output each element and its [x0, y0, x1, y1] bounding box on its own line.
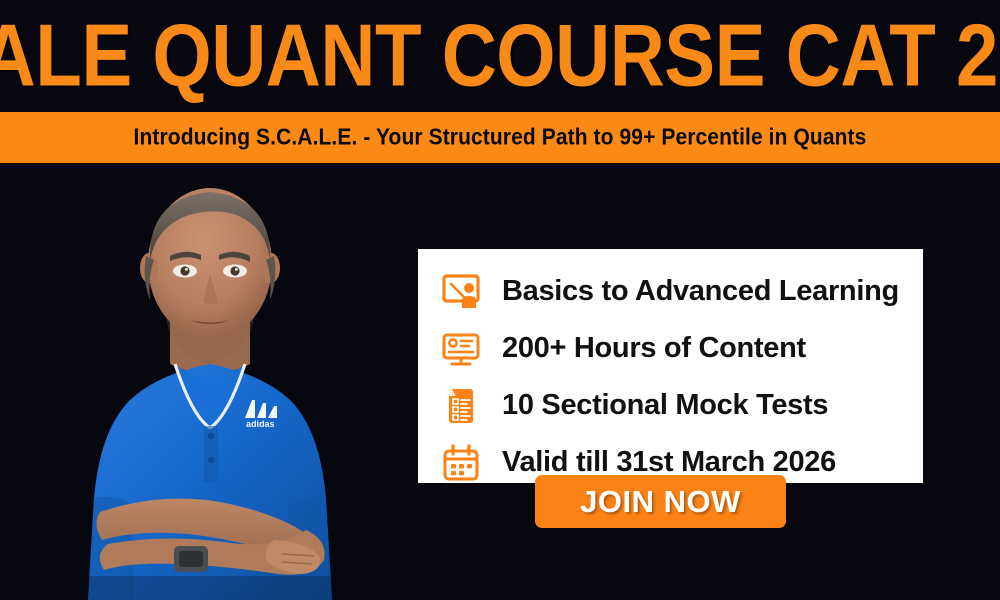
monitor-content-icon [440, 328, 482, 370]
feature-item-sectional-mock-tests: 10 Sectional Mock Tests [440, 377, 923, 434]
join-now-button[interactable]: JOIN NOW [535, 475, 786, 528]
presentation-board-icon [440, 271, 482, 313]
feature-item-basics-to-advanced: Basics to Advanced Learning [440, 263, 923, 320]
feature-label: 200+ Hours of Content [502, 332, 806, 365]
instructor-photo: adidas [38, 168, 383, 600]
feature-list-card: Basics to Advanced Learning 200+ Hours o… [418, 249, 923, 483]
feature-label: Basics to Advanced Learning [502, 275, 899, 308]
title-zone: SCALE QUANT COURSE CAT 2025 [0, 0, 1000, 112]
checklist-document-icon [440, 385, 482, 427]
promo-banner: SCALE QUANT COURSE CAT 2025 Introducing … [0, 0, 1000, 600]
subtitle-bar: Introducing S.C.A.L.E. - Your Structured… [0, 112, 1000, 163]
svg-text:adidas: adidas [246, 419, 275, 429]
subtitle-text: Introducing S.C.A.L.E. - Your Structured… [134, 124, 867, 151]
join-now-label: JOIN NOW [580, 484, 741, 520]
page-title: SCALE QUANT COURSE CAT 2025 [0, 12, 1000, 100]
feature-item-hours-of-content: 200+ Hours of Content [440, 320, 923, 377]
calendar-icon [440, 442, 482, 484]
instructor-portrait-illustration: adidas [38, 168, 383, 600]
feature-label: 10 Sectional Mock Tests [502, 389, 828, 422]
